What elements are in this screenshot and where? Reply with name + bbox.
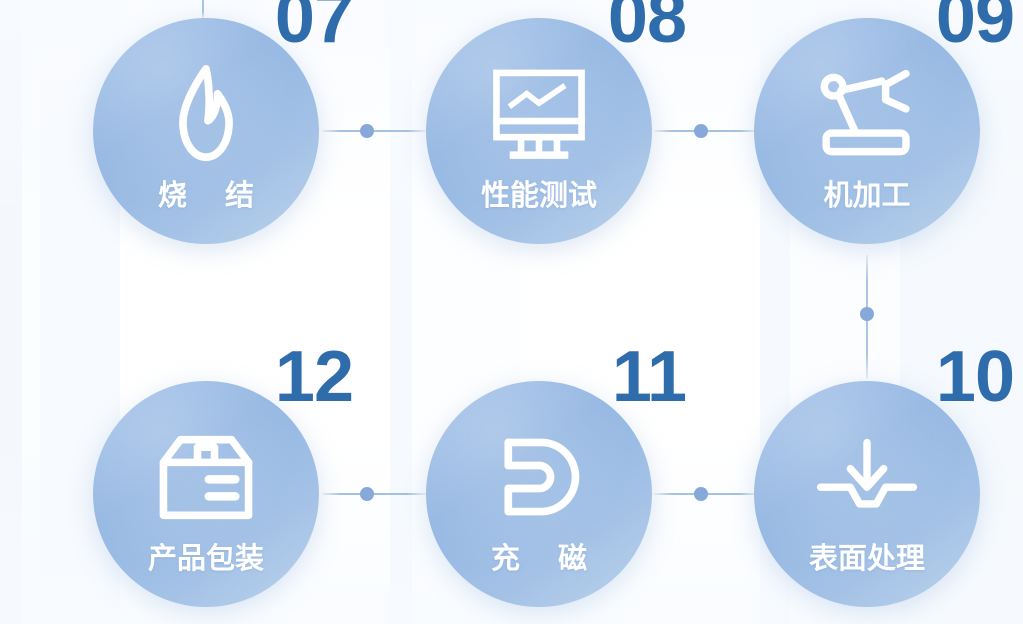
step-07-sintering[interactable]: 07 烧 结 — [93, 18, 319, 244]
step-number: 12 — [275, 341, 353, 413]
step-08-performance-test[interactable]: 08 性能测试 — [426, 18, 652, 244]
step-number: 10 — [936, 341, 1014, 413]
step-number: 11 — [612, 341, 686, 413]
step-09-machining[interactable]: 09 机加工 — [754, 18, 980, 244]
surface-treatment-icon — [815, 429, 919, 525]
connector-dot-08-09 — [694, 124, 708, 138]
process-flow-diagram: 07 烧 结 08 性能测试 09 — [0, 0, 1023, 624]
connector-dot-11-10 — [694, 487, 708, 501]
package-box-icon — [154, 429, 258, 525]
connector-07-to-08 — [322, 130, 426, 132]
step-label: 产品包装 — [93, 535, 319, 577]
step-number: 07 — [275, 0, 353, 54]
step-label: 烧 结 — [93, 172, 319, 214]
connector-dot-09-10 — [860, 307, 874, 321]
step-number: 08 — [608, 0, 686, 54]
monitor-chart-icon — [487, 66, 591, 162]
connector-top-inlet — [202, 0, 204, 18]
magnet-icon — [487, 429, 591, 525]
step-label: 性能测试 — [426, 172, 652, 214]
step-label: 充 磁 — [426, 535, 652, 577]
step-label: 机加工 — [754, 172, 980, 214]
connector-dot-07-08 — [360, 124, 374, 138]
step-11-magnetizing[interactable]: 11 充 磁 — [426, 381, 652, 607]
step-label: 表面处理 — [754, 535, 980, 577]
step-12-packaging[interactable]: 12 产品包装 — [93, 381, 319, 607]
robot-arm-icon — [815, 66, 919, 162]
flame-icon — [154, 66, 258, 162]
step-number: 09 — [936, 0, 1014, 54]
step-10-surface-treatment[interactable]: 10 表面处理 — [754, 381, 980, 607]
connector-12-to-11 — [322, 493, 426, 495]
connector-dot-12-11 — [360, 487, 374, 501]
